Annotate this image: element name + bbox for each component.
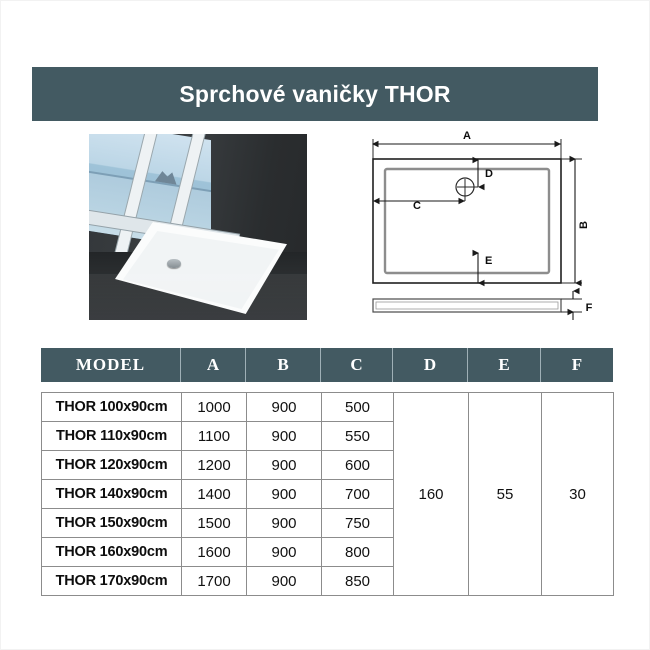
column-header-model: MODEL [41, 348, 181, 382]
cell-b: 900 [247, 393, 322, 422]
table-row: THOR 100x90cm10009005001605530 [42, 393, 614, 422]
dimension-label-d: D [485, 168, 493, 180]
dimension-label-c: C [413, 200, 421, 212]
cell-d-merged: 160 [394, 393, 469, 596]
dimension-label-f: F [586, 302, 593, 314]
cell-b: 900 [247, 422, 322, 451]
column-header-c: C [321, 348, 393, 382]
cell-model: THOR 100x90cm [42, 393, 182, 422]
product-photo [89, 134, 307, 320]
page-header-banner: Sprchové vaničky THOR [32, 67, 598, 121]
cell-a: 1700 [182, 567, 247, 596]
page-title: Sprchové vaničky THOR [179, 81, 450, 108]
cell-b: 900 [247, 451, 322, 480]
dimension-label-b: B [578, 221, 590, 229]
cell-model: THOR 160x90cm [42, 538, 182, 567]
column-header-b: B [246, 348, 321, 382]
cell-c: 850 [322, 567, 394, 596]
cell-a: 1100 [182, 422, 247, 451]
technical-drawing: A D C E B [351, 127, 606, 327]
cell-c: 600 [322, 451, 394, 480]
column-header-d: D [393, 348, 468, 382]
cell-e-merged: 55 [469, 393, 542, 596]
photo-drain-icon [167, 259, 181, 268]
cell-a: 1200 [182, 451, 247, 480]
dimension-label-e: E [485, 255, 492, 267]
cell-model: THOR 150x90cm [42, 509, 182, 538]
cell-model: THOR 110x90cm [42, 422, 182, 451]
cell-a: 1000 [182, 393, 247, 422]
specification-table: THOR 100x90cm10009005001605530THOR 110x9… [41, 392, 614, 596]
cell-a: 1400 [182, 480, 247, 509]
table-body: THOR 100x90cm10009005001605530THOR 110x9… [41, 392, 613, 596]
cell-model: THOR 120x90cm [42, 451, 182, 480]
cell-c: 500 [322, 393, 394, 422]
cell-c: 800 [322, 538, 394, 567]
cell-c: 550 [322, 422, 394, 451]
cell-a: 1500 [182, 509, 247, 538]
dimension-label-a: A [463, 130, 471, 142]
cell-b: 900 [247, 567, 322, 596]
cell-b: 900 [247, 509, 322, 538]
column-header-a: A [181, 348, 246, 382]
cell-c: 750 [322, 509, 394, 538]
cell-model: THOR 170x90cm [42, 567, 182, 596]
cell-c: 700 [322, 480, 394, 509]
cell-b: 900 [247, 480, 322, 509]
photo-floor-reflection [89, 274, 307, 320]
cell-model: THOR 140x90cm [42, 480, 182, 509]
column-header-e: E [468, 348, 541, 382]
cell-f-merged: 30 [542, 393, 614, 596]
table-header-row: MODEL A B C D E F [41, 348, 613, 382]
column-header-f: F [541, 348, 613, 382]
cell-a: 1600 [182, 538, 247, 567]
cell-b: 900 [247, 538, 322, 567]
page-root: Sprchové vaničky THOR [0, 0, 650, 650]
